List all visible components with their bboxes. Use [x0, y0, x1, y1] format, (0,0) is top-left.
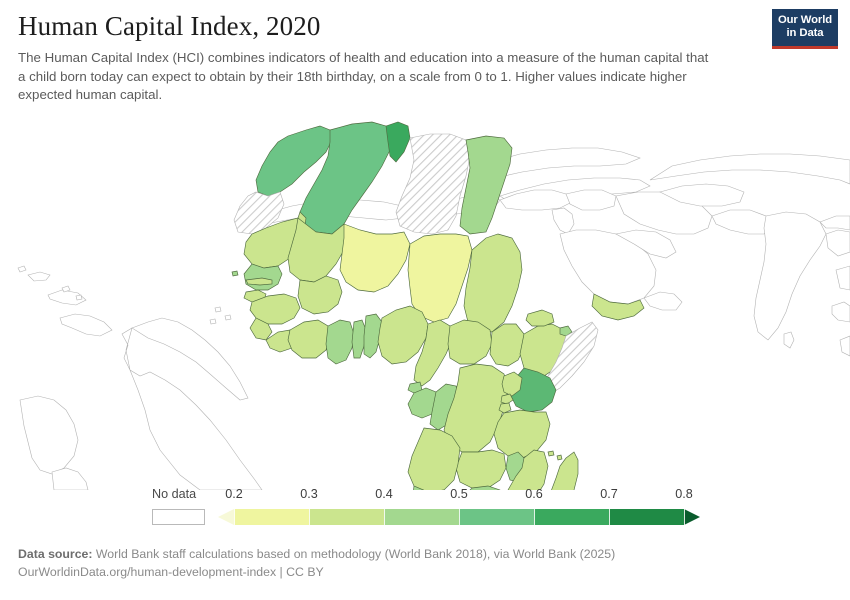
footer-source-text: World Bank staff calculations based on m…	[96, 547, 615, 561]
region-comoros-2[interactable]	[557, 455, 562, 460]
region-comoros[interactable]	[548, 451, 554, 456]
legend-bin-5[interactable]	[534, 509, 609, 525]
region-car[interactable]	[448, 320, 492, 364]
legend-tick-label-0.4: 0.4	[375, 487, 393, 501]
legend-no-data-label: No data	[152, 487, 196, 501]
legend-tick-mark-0.4	[384, 509, 385, 525]
region-eritrea[interactable]	[526, 310, 554, 326]
page-title: Human Capital Index, 2020	[18, 10, 748, 42]
region-libya[interactable]	[396, 134, 470, 234]
region-niger[interactable]	[340, 224, 410, 292]
region-chad[interactable]	[408, 234, 472, 322]
region-zambia[interactable]	[456, 450, 506, 488]
map-legend: No data 0.20.30.40.50.60.70.8	[0, 487, 850, 535]
legend-tick-mark-0.6	[534, 509, 535, 525]
legend-tick-mark-0.5	[459, 509, 460, 525]
legend-tick-label-0.3: 0.3	[300, 487, 318, 501]
footer-source-prefix: Data source:	[18, 547, 93, 561]
legend-no-data-swatch[interactable]	[152, 509, 205, 525]
region-egypt[interactable]	[460, 136, 512, 234]
legend-bin-3[interactable]	[384, 509, 459, 525]
legend-tick-mark-0.2	[234, 509, 235, 525]
legend-bin-0[interactable]	[218, 509, 234, 525]
region-cote-divoire[interactable]	[288, 320, 330, 358]
region-sudan[interactable]	[464, 234, 522, 332]
legend-tick-label-0.8: 0.8	[675, 487, 693, 501]
legend-bin-7[interactable]	[684, 509, 700, 525]
legend-bin-4[interactable]	[459, 509, 534, 525]
chart-footer: Data source: World Bank staff calculatio…	[18, 546, 818, 581]
region-angola[interactable]	[408, 428, 460, 490]
choropleth-map[interactable]	[0, 100, 850, 490]
legend-tick-label-0.7: 0.7	[600, 487, 618, 501]
region-senegal[interactable]	[244, 264, 282, 290]
region-cape-verde[interactable]	[232, 271, 238, 276]
legend-bin-1[interactable]	[234, 509, 309, 525]
region-tanzania[interactable]	[494, 410, 550, 458]
owid-logo-line1: Our World	[772, 14, 838, 27]
chart-subtitle: The Human Capital Index (HCI) combines i…	[18, 49, 718, 105]
region-burkina-faso[interactable]	[298, 276, 342, 314]
legend-tick-label-0.2: 0.2	[225, 487, 243, 501]
footer-source: Data source: World Bank staff calculatio…	[18, 546, 818, 564]
legend-tick-label-0.5: 0.5	[450, 487, 468, 501]
legend-tick-label-0.6: 0.6	[525, 487, 543, 501]
legend-bin-6[interactable]	[609, 509, 684, 525]
region-ghana[interactable]	[326, 320, 354, 364]
region-tunisia[interactable]	[386, 122, 410, 162]
chart-header: Human Capital Index, 2020 The Human Capi…	[18, 10, 748, 105]
region-south-sudan[interactable]	[490, 324, 524, 366]
data-regions[interactable]	[232, 122, 644, 490]
footer-link-line: OurWorldinData.org/human-development-ind…	[18, 564, 818, 582]
legend-tick-mark-0.3	[309, 509, 310, 525]
owid-logo-line2: in Data	[772, 27, 838, 40]
legend-tick-mark-0.7	[609, 509, 610, 525]
owid-logo[interactable]: Our World in Data	[772, 9, 838, 49]
owid-link[interactable]: OurWorldinData.org/human-development-ind…	[18, 565, 324, 579]
legend-tick-mark-0.8	[684, 509, 685, 525]
legend-bin-2[interactable]	[309, 509, 384, 525]
